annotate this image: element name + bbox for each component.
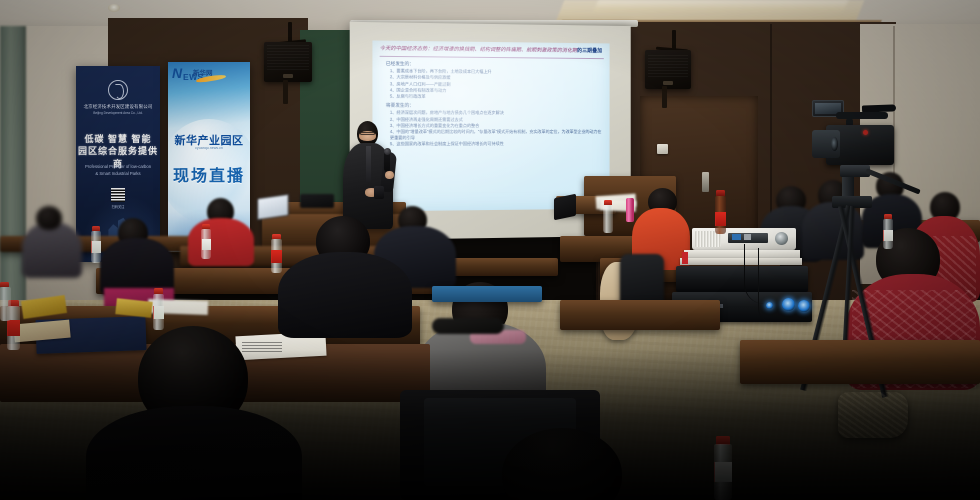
presenter-clicker[interactable] (374, 186, 384, 199)
slide-title-emphasis: 经济增速的换挡期、结构调整的阵痛期、前期刺激政策的消化期 (433, 46, 577, 54)
speaker-badge-right (663, 81, 673, 85)
wall-speaker-right (645, 50, 691, 89)
slide-section-two-heading: 将要发生的： (386, 102, 604, 109)
attendee-foreground-body-left (86, 406, 302, 500)
attendee-chair (620, 254, 664, 306)
av-cable (758, 248, 772, 322)
presentation-slide: 今天的中国经济态势：经济增速的换挡期、结构调整的阵痛期、前期刺激政策的消化期的三… (372, 40, 609, 211)
camera-record-led (863, 130, 868, 135)
xinhua-news-logo: N EWS 新华网 (172, 66, 230, 84)
desk-row-right-3 (560, 300, 720, 330)
slide-title-prefix: 今天的中国经济态势： (380, 46, 433, 53)
wall-speaker-left (264, 42, 312, 82)
slide-title-suffix: 的三期叠加 (577, 48, 602, 54)
slide-item: 5、这些国家的改革和社会制度上保证中国经济增长的可持续性 (390, 141, 604, 148)
blue-desk-pad (432, 286, 542, 302)
attendee-grey-back-left (22, 222, 82, 278)
speaker-badge-left (283, 74, 293, 78)
projector-lens-icon (775, 232, 788, 245)
light-switch-plate[interactable] (657, 144, 668, 154)
news-mark-letter: N (172, 66, 182, 80)
company-monogram-logo (108, 80, 128, 100)
banner-company-en: Beijing Development Area Co., Ltd. (76, 111, 160, 115)
patterned-handbag (838, 392, 908, 438)
paper-text-lines (242, 340, 282, 352)
camera-top-handle[interactable] (836, 112, 888, 119)
ceiling-light-cove-inner (594, 0, 849, 11)
banner-company-cn: 北京经济技术开发区建设有限公司 (76, 104, 160, 110)
attendee-collar (432, 318, 504, 334)
attendee-head (36, 206, 62, 230)
banner-live-text: 现场直播 (168, 162, 250, 186)
banner-qr-caption: 扫码关注 (76, 204, 160, 209)
camera-lens-icon (812, 130, 840, 158)
attendee-laptop-open[interactable] (257, 194, 289, 220)
glasses-icon (360, 132, 375, 135)
av-shelf-mid (680, 258, 802, 265)
door-handle-icon[interactable] (702, 172, 709, 192)
slide-item: 5、反腐与行政改革 (390, 93, 604, 100)
speaker-stem-right (662, 86, 667, 108)
window-curtain (0, 26, 26, 326)
banner-brand-url: cyuanqu.news.cn (168, 146, 250, 150)
av-player-deck (676, 266, 808, 292)
speaker-mount-right (672, 30, 676, 50)
shelf-red-marker (682, 252, 688, 264)
banner-tagline-line1: Professional Provider of low-carbon (76, 164, 160, 169)
ceiling-downlight-left (108, 4, 120, 12)
podium-monitor (554, 194, 576, 221)
qr-code-icon[interactable] (111, 188, 125, 202)
av-shelf-top (684, 250, 800, 258)
hdmi-port-icon[interactable] (744, 234, 751, 240)
attendee-foreground-body-mid (278, 252, 412, 338)
banner-tagline-line2: & Smart Industrial Parks (76, 171, 160, 176)
presenter-jacket-placket (366, 146, 371, 182)
vga-port-icon[interactable] (732, 234, 741, 240)
pink-thermos (626, 198, 634, 222)
av-rack-led (798, 300, 810, 312)
attendee-torso (188, 218, 254, 266)
microphone-head-icon (384, 148, 391, 155)
slide-item: 4、中国的“增量改革”模式的后期比较的时间内，“存量改革”模式开始有机制，充实改… (390, 129, 604, 142)
speaker-grille-left (267, 45, 309, 70)
av-rack-led (782, 298, 795, 311)
desk-row-right-4 (740, 340, 980, 384)
front-desk-laptop (300, 194, 334, 208)
conference-room-photo: 今天的中国经济态势：经济增速的换挡期、结构调整的阵痛期、前期刺激政策的消化期的三… (0, 0, 980, 500)
presenter-right-hand (385, 171, 394, 179)
slide-title: 今天的中国经济态势：经济增速的换挡期、结构调整的阵痛期、前期刺激政策的消化期的三… (380, 46, 604, 59)
speaker-grille-right (648, 53, 688, 77)
speaker-stem-left (283, 80, 288, 104)
